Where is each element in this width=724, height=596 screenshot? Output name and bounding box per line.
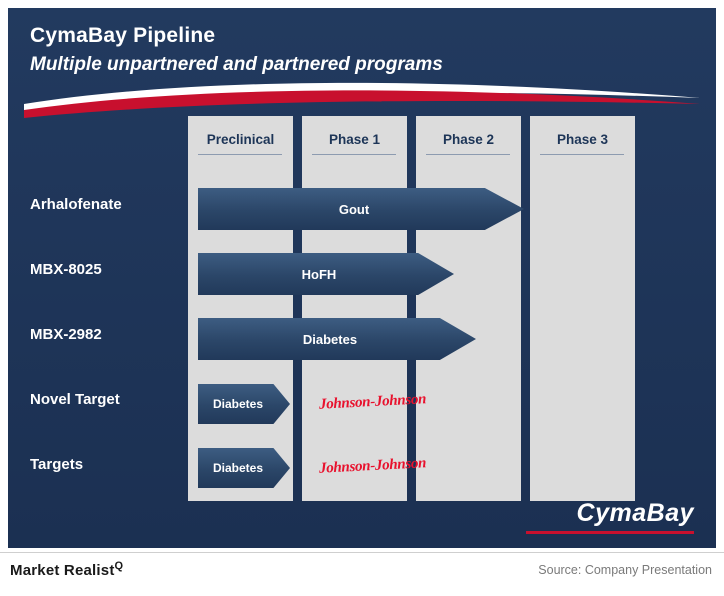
pipeline-bar-novel-target: Diabetes [198,384,290,424]
phase-header-phase-1: Phase 1 [302,132,407,147]
pipeline-bar-label: Gout [339,202,369,217]
pipeline-bar-mbx-8025: HoFH [198,253,454,295]
pipeline-bar-label: Diabetes [213,461,263,475]
phase-header-phase-3: Phase 3 [530,132,635,147]
phase-header-rule [426,154,510,155]
phase-header-rule [312,154,396,155]
phase-column-preclinical [188,116,293,501]
phase-header-rule [198,154,282,155]
page-title: CymaBay Pipeline [30,24,215,48]
footer-divider [0,552,724,553]
market-realist-label: Market Realist [10,562,115,579]
slide-root: CymaBay Pipeline Multiple unpartnered an… [0,0,724,596]
row-label-targets: Targets [30,456,186,473]
pipeline-chart: Preclinical Phase 1 Phase 2 Phase 3 Gout… [188,116,653,501]
phase-column-phase-2 [416,116,521,501]
source-note: Source: Company Presentation [538,563,712,577]
pipeline-bar-mbx-2982: Diabetes [198,318,476,360]
phase-header-preclinical: Preclinical [188,132,293,147]
pipeline-bar-label: HoFH [302,267,337,282]
pipeline-bar-arhalofenate: Gout [198,188,524,230]
row-label-mbx-8025: MBX-8025 [30,261,186,278]
pipeline-bar-label: Diabetes [303,332,357,347]
phase-header-rule [540,154,624,155]
cymabay-logo-text: CymaBay [526,499,694,528]
row-label-mbx-2982: MBX-2982 [30,326,186,343]
phase-column-phase-1 [302,116,407,501]
cymabay-logo-bar [526,531,694,534]
cymabay-logo: CymaBay [526,499,694,534]
market-realist-logo: Market RealistQ [10,560,123,579]
row-label-arhalofenate: Arhalofenate [30,196,186,213]
pipeline-panel: CymaBay Pipeline Multiple unpartnered an… [8,8,716,548]
pipeline-bar-targets: Diabetes [198,448,290,488]
pipeline-bar-label: Diabetes [213,397,263,411]
phase-header-phase-2: Phase 2 [416,132,521,147]
row-label-novel-target: Novel Target [30,391,186,408]
market-realist-mark-icon: Q [115,560,124,572]
phase-column-phase-3 [530,116,635,501]
swoosh-decoration [8,72,716,118]
